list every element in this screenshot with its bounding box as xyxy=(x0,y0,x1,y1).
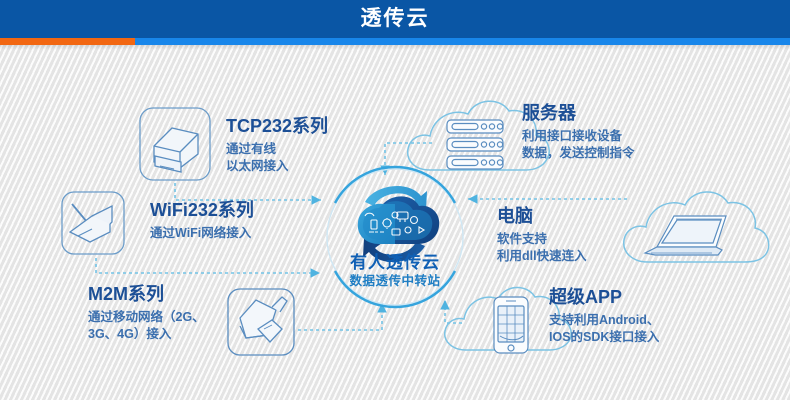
node-title-wifi232: WiFi232系列 xyxy=(150,201,254,220)
node-sub-computer-line1: 软件支持 xyxy=(497,231,587,248)
node-sub-m2m-line1: 通过移动网络（2G、 xyxy=(88,309,205,326)
node-title-tcp232: TCP232系列 xyxy=(226,117,328,136)
node-title-computer: 电脑 xyxy=(497,207,587,226)
center-subtitle: 数据透传中转站 xyxy=(295,270,495,289)
node-sub-app-line1: 支持利用Android、 xyxy=(549,312,659,329)
node-label-app: 超级APP 支持利用Android、 IOS的SDK接口接入 xyxy=(549,288,659,346)
node-label-server: 服务器 利用接口接收设备 数据，发送控制指令 xyxy=(522,104,635,162)
node-sub-server-line2: 数据，发送控制指令 xyxy=(522,145,635,162)
wifi-module-icon xyxy=(62,192,124,254)
infographic-page: 透传云 xyxy=(0,0,790,400)
node-title-app: 超级APP xyxy=(549,288,659,307)
node-title-server: 服务器 xyxy=(522,104,635,123)
node-sub-tcp232-line2: 以太网接入 xyxy=(226,158,328,175)
node-label-wifi232: WiFi232系列 通过WiFi网络接入 xyxy=(150,201,254,242)
mobile-modem-icon xyxy=(228,289,294,355)
node-sub-server-line1: 利用接口接收设备 xyxy=(522,128,635,145)
node-sub-m2m-line2: 3G、4G）接入 xyxy=(88,326,205,343)
node-title-m2m: M2M系列 xyxy=(88,285,205,304)
node-label-m2m: M2M系列 通过移动网络（2G、 3G、4G）接入 xyxy=(88,285,205,343)
node-label-computer: 电脑 软件支持 利用dll快速连入 xyxy=(497,207,587,265)
laptop-cloud-icon xyxy=(624,192,769,262)
node-sub-wifi232-line1: 通过WiFi网络接入 xyxy=(150,225,254,242)
node-label-tcp232: TCP232系列 通过有线 以太网接入 xyxy=(226,117,328,175)
node-sub-tcp232-line1: 通过有线 xyxy=(226,141,328,158)
node-sub-computer-line2: 利用dll快速连入 xyxy=(497,248,587,265)
node-sub-app-line2: IOS的SDK接口接入 xyxy=(549,329,659,346)
serial-device-icon xyxy=(140,108,210,180)
